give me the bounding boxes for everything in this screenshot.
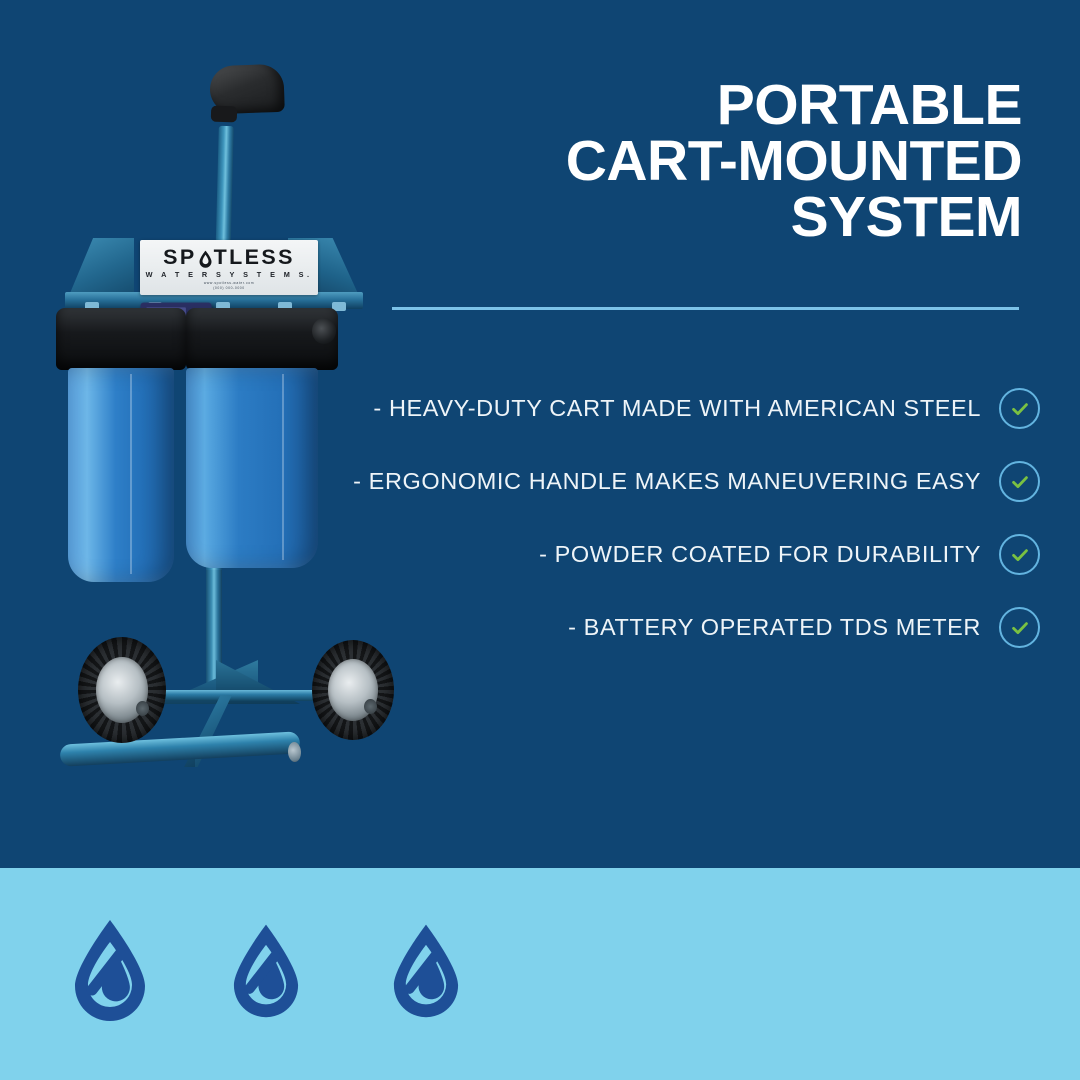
feature-label: - POWDER COATED FOR DURABILITY xyxy=(539,541,981,568)
cart-wheel-left xyxy=(78,637,166,743)
frame-bracket-left xyxy=(68,238,134,298)
feature-item: - ERGONOMIC HANDLE MAKES MANEUVERING EAS… xyxy=(300,445,1040,518)
handle-collar xyxy=(211,106,238,123)
filter-cap-left xyxy=(56,308,186,370)
feature-item: - BATTERY OPERATED TDS METER xyxy=(300,591,1040,664)
filter-housing-left xyxy=(68,368,174,582)
infographic-canvas: SP TLESS W A T E R S Y S T E M S. www.sp… xyxy=(0,0,1080,1080)
check-circle-icon xyxy=(999,534,1040,575)
footer-logo-strip xyxy=(0,868,1080,1080)
wheel-hub-nut xyxy=(136,701,149,716)
water-drop-logo-icon xyxy=(62,914,158,1026)
check-circle-icon xyxy=(999,607,1040,648)
spotless-brand-decal: SP TLESS W A T E R S Y S T E M S. www.sp… xyxy=(140,240,318,295)
wheel-hub xyxy=(328,659,378,721)
water-drop-logo-icon xyxy=(382,919,470,1022)
headline-line-3: SYSTEM xyxy=(380,190,1022,246)
decal-fineprint: www.spotless-water.com (000) 000-0000 xyxy=(204,281,254,291)
filter-housing-right xyxy=(186,368,318,568)
wheel-hub-nut xyxy=(364,699,377,714)
water-drop-glyph-icon xyxy=(198,250,213,268)
cart-base-bar xyxy=(60,731,301,766)
decal-fineprint-phone: (000) 000-0000 xyxy=(213,286,245,290)
cart-base-bar-end-cap xyxy=(287,742,301,763)
page-title: PORTABLE CART-MOUNTED SYSTEM xyxy=(380,78,1022,246)
housing-seam xyxy=(282,374,284,560)
headline-line-2: CART-MOUNTED xyxy=(380,134,1022,190)
decal-brand-part2: TLESS xyxy=(214,247,295,269)
check-circle-icon xyxy=(999,461,1040,502)
feature-label: - ERGONOMIC HANDLE MAKES MANEUVERING EAS… xyxy=(353,468,981,495)
housing-seam xyxy=(130,374,132,574)
headline-divider xyxy=(392,307,1019,310)
wheel-hub xyxy=(96,657,148,723)
feature-item: - POWDER COATED FOR DURABILITY xyxy=(300,518,1040,591)
headline-line-1: PORTABLE xyxy=(380,78,1022,134)
feature-item: - HEAVY-DUTY CART MADE WITH AMERICAN STE… xyxy=(300,372,1040,445)
decal-fineprint-website: www.spotless-water.com xyxy=(204,281,254,285)
decal-brand-part1: SP xyxy=(163,247,196,269)
feature-label: - HEAVY-DUTY CART MADE WITH AMERICAN STE… xyxy=(373,395,981,422)
feature-list: - HEAVY-DUTY CART MADE WITH AMERICAN STE… xyxy=(300,372,1040,664)
check-circle-icon xyxy=(999,388,1040,429)
decal-subtitle: W A T E R S Y S T E M S. xyxy=(146,271,313,278)
feature-label: - BATTERY OPERATED TDS METER xyxy=(568,614,981,641)
filter-outlet-port xyxy=(312,318,336,344)
water-drop-logo-icon xyxy=(222,919,310,1022)
decal-brand-text: SP TLESS xyxy=(163,247,295,269)
